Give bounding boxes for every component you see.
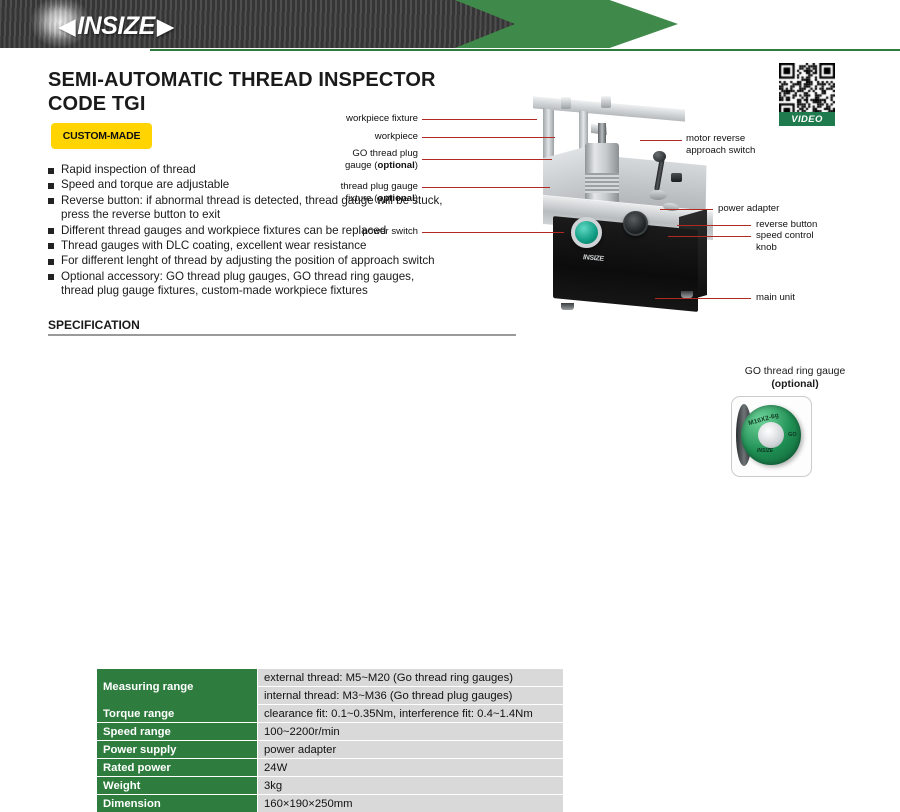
spec-value: 100~2200r/min — [257, 723, 563, 741]
spec-key: Torque range — [97, 705, 257, 723]
feature-text: Thread gauges with DLC coating, excellen… — [61, 239, 448, 254]
insize-logo: ◀ INSIZE ▶ — [58, 12, 174, 41]
callout-label-line1: GO thread plug — [286, 148, 418, 160]
callout-label: main unit — [756, 292, 795, 303]
callout-power-switch: power switch — [316, 226, 418, 238]
spec-value: 24W — [257, 759, 563, 777]
ring-gauge-caption-line1: GO thread ring gauge — [700, 366, 890, 379]
video-badge-label: VIDEO — [791, 114, 823, 125]
feature-text: For different lenght of thread by adjust… — [61, 254, 448, 269]
leader-line-speed-control-knob — [668, 236, 751, 237]
bullet-square-icon — [48, 274, 54, 280]
bullet-square-icon — [48, 259, 54, 265]
table-row: Measuring range external thread: M5~M20 … — [97, 669, 563, 687]
leader-line-thread-plug-gauge-fixture — [422, 187, 550, 188]
logo-arrow-right-icon: ▶ — [157, 15, 174, 38]
callout-thread-plug-gauge-fixture: thread plug gauge fixture (optional) — [286, 181, 418, 204]
feature-item: Thread gauges with DLC coating, excellen… — [48, 239, 448, 254]
callout-workpiece: workpiece — [300, 131, 418, 143]
page-title-line1: SEMI-AUTOMATIC THREAD INSPECTOR — [48, 68, 436, 92]
qr-code-icon[interactable] — [779, 63, 835, 119]
callout-go-thread-plug-gauge: GO thread plug gauge (optional) — [286, 148, 418, 171]
table-row: Weight 3kg — [97, 777, 563, 795]
spec-key: Dimension — [97, 795, 257, 812]
logo-arrow-left-icon: ◀ — [58, 15, 75, 38]
callout-label-line2: gauge (optional) — [286, 160, 418, 172]
callout-motor-reverse-approach-switch: motor reverse approach switch — [686, 133, 816, 156]
callout-label-line1: motor reverse — [686, 133, 816, 145]
callout-label-line1: speed control — [756, 230, 886, 242]
callout-speed-control-knob: speed control knob — [756, 230, 886, 253]
spec-value: 160×190×250mm — [257, 795, 563, 812]
product-photo: INSIZE — [505, 95, 720, 330]
leader-line-power-switch — [422, 232, 564, 233]
feature-item: Optional accessory: GO thread plug gauge… — [48, 270, 448, 300]
bullet-square-icon — [48, 168, 54, 174]
table-row: Torque range clearance fit: 0.1~0.35Nm, … — [97, 705, 563, 723]
spec-key: Rated power — [97, 759, 257, 777]
approach-switch-knob[interactable] — [653, 151, 666, 162]
spec-key: Weight — [97, 777, 257, 795]
video-badge[interactable]: VIDEO — [779, 112, 835, 126]
bullet-square-icon — [48, 198, 54, 204]
callout-power-adapter: power adapter — [718, 203, 838, 215]
custom-made-badge: CUSTOM-MADE — [51, 123, 152, 149]
callout-label: workpiece fixture — [346, 113, 418, 124]
feature-text: Optional accessory: GO thread plug gauge… — [61, 270, 448, 300]
unit-foot — [561, 303, 574, 310]
clamp-icon — [601, 96, 611, 108]
callout-label: power adapter — [718, 203, 779, 214]
callout-label: power switch — [363, 226, 418, 237]
power-adapter-port — [649, 190, 667, 200]
page-title: SEMI-AUTOMATIC THREAD INSPECTOR CODE TGI — [48, 68, 436, 117]
spec-value: 3kg — [257, 777, 563, 795]
table-row: Rated power 24W — [97, 759, 563, 777]
speed-control-knob-control[interactable] — [623, 211, 648, 236]
power-switch-button[interactable] — [571, 217, 602, 248]
ring-gauge-go-mark: GO — [788, 432, 797, 438]
callout-label-line1: thread plug gauge — [286, 181, 418, 193]
logo-wordmark: INSIZE — [77, 12, 155, 41]
callout-label-line2: approach switch — [686, 145, 816, 157]
feature-item: For different lenght of thread by adjust… — [48, 254, 448, 269]
thread-plug-gauge-fixture-body — [585, 143, 619, 205]
callout-workpiece-fixture: workpiece fixture — [300, 113, 418, 125]
spec-key: Measuring range — [97, 669, 257, 705]
clamp-icon — [561, 97, 571, 109]
leader-line-motor-reverse-approach-switch — [640, 140, 682, 141]
spec-value: clearance fit: 0.1~0.35Nm, interference … — [257, 705, 563, 723]
ring-gauge-caption: GO thread ring gauge (optional) — [700, 366, 890, 391]
leader-line-workpiece — [422, 137, 555, 138]
spec-value: power adapter — [257, 741, 563, 759]
table-row: Dimension 160×190×250mm — [97, 795, 563, 812]
table-row: Speed range 100~2200r/min — [97, 723, 563, 741]
callout-label-line2: knob — [756, 242, 886, 254]
spec-key: Power supply — [97, 741, 257, 759]
spec-value: external thread: M5~M20 (Go thread ring … — [257, 669, 563, 687]
unit-foot — [681, 291, 693, 298]
header-green-rule — [0, 48, 900, 52]
bullet-square-icon — [48, 183, 54, 189]
callout-main-unit: main unit — [756, 292, 876, 304]
spec-value: internal thread: M3~M36 (Go thread plug … — [257, 687, 563, 705]
bullet-square-icon — [48, 243, 54, 249]
leader-line-power-adapter — [660, 209, 713, 210]
table-row: Power supply power adapter — [97, 741, 563, 759]
motor-reverse-approach-switch-body — [671, 173, 682, 182]
leader-line-workpiece-fixture — [422, 119, 537, 120]
ring-gauge-caption-line2: (optional) — [700, 379, 890, 392]
spec-key: Speed range — [97, 723, 257, 741]
leader-line-reverse-button — [677, 225, 751, 226]
leader-line-main-unit — [655, 298, 751, 299]
ring-gauge-brand: INSIZE — [757, 448, 773, 454]
callout-label: workpiece — [375, 131, 418, 142]
specification-table: Measuring range external thread: M5~M20 … — [97, 669, 563, 812]
specification-table-border: Measuring range external thread: M5~M20 … — [48, 334, 516, 336]
callout-reverse-button: reverse button — [756, 219, 886, 231]
leader-line-go-thread-plug-gauge — [422, 159, 552, 160]
bullet-square-icon — [48, 228, 54, 234]
header-banner: ◀ INSIZE ▶ — [0, 0, 900, 48]
custom-made-badge-label: CUSTOM-MADE — [63, 130, 141, 142]
specification-heading: SPECIFICATION — [48, 318, 140, 332]
callout-label-line2: fixture (optional) — [286, 193, 418, 205]
callout-label: reverse button — [756, 219, 817, 230]
